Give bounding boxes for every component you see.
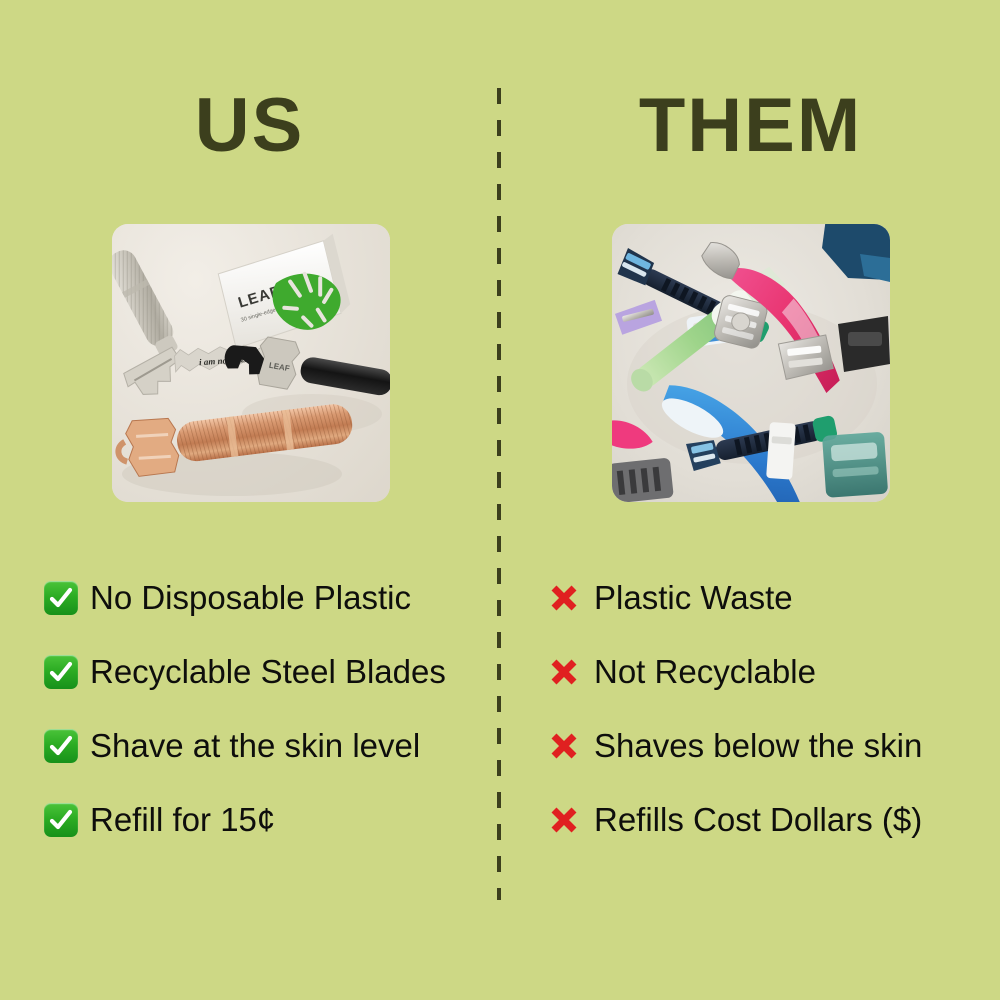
check-mark-icon (44, 729, 78, 763)
check-mark-icon (44, 655, 78, 689)
list-item: No Disposable Plastic (44, 575, 474, 621)
list-item-label: No Disposable Plastic (90, 581, 411, 616)
list-item-label: Recyclable Steel Blades (90, 655, 446, 690)
photo-surface-us: LEAF 30 single-edge blades i am not plas… (112, 224, 390, 502)
cross-mark-icon (548, 729, 582, 763)
comparison-infographic: US THEM (0, 0, 1000, 1000)
product-photo-us: LEAF 30 single-edge blades i am not plas… (112, 224, 390, 502)
list-item: Refill for 15¢ (44, 797, 474, 843)
list-item: Shave at the skin level (44, 723, 474, 769)
list-item-label: Shave at the skin level (90, 729, 420, 764)
leaf-razors-illustration: LEAF 30 single-edge blades i am not plas… (112, 224, 390, 502)
photo-surface-them (612, 224, 890, 502)
list-item-label: Plastic Waste (594, 581, 793, 616)
dashed-vertical-divider (497, 88, 501, 900)
column-title-them: THEM (501, 88, 1000, 164)
list-item-label: Not Recyclable (594, 655, 816, 690)
plastic-razors-illustration (612, 224, 890, 502)
column-title-us: US (0, 88, 499, 164)
list-item-label: Refills Cost Dollars ($) (594, 803, 922, 838)
feature-list-them: Plastic Waste Not Recyclable Shaves belo… (548, 575, 978, 843)
list-item: Shaves below the skin (548, 723, 978, 769)
cross-mark-icon (548, 581, 582, 615)
list-item-label: Shaves below the skin (594, 729, 922, 764)
check-mark-icon (44, 581, 78, 615)
cross-mark-icon (548, 803, 582, 837)
list-item: Plastic Waste (548, 575, 978, 621)
feature-list-us: No Disposable Plastic Recyclable Steel B… (44, 575, 474, 843)
product-photo-them (612, 224, 890, 502)
list-item: Refills Cost Dollars ($) (548, 797, 978, 843)
check-mark-icon (44, 803, 78, 837)
cross-mark-icon (548, 655, 582, 689)
list-item: Recyclable Steel Blades (44, 649, 474, 695)
list-item-label: Refill for 15¢ (90, 803, 275, 838)
list-item: Not Recyclable (548, 649, 978, 695)
